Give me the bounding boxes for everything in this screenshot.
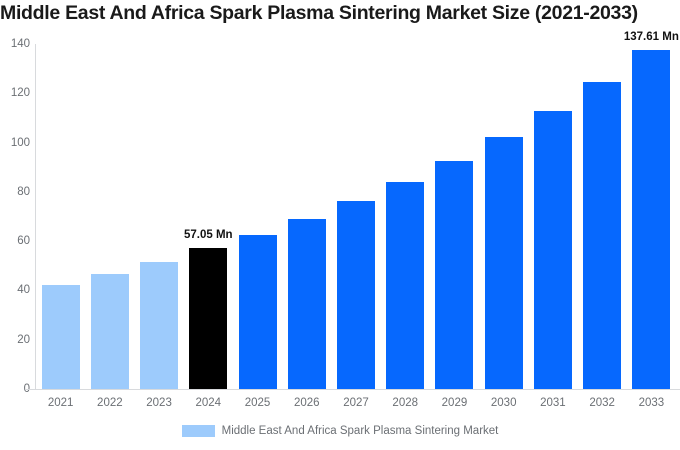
x-axis-line: [26, 389, 680, 390]
x-tick-label-2026: 2026: [282, 396, 332, 410]
x-tick-label-2021: 2021: [36, 396, 86, 410]
bar-2032[interactable]: [583, 82, 621, 389]
legend-label: Middle East And Africa Spark Plasma Sint…: [222, 424, 499, 438]
x-tick-label-2023: 2023: [134, 396, 184, 410]
x-tick-label-2030: 2030: [479, 396, 529, 410]
bar-chart: Middle East And Africa Spark Plasma Sint…: [0, 0, 680, 450]
bar-annotation-2024: 57.05 Mn: [168, 229, 248, 242]
legend-swatch-icon: [182, 425, 215, 437]
x-tick-label-2032: 2032: [577, 396, 627, 410]
x-tick-label-2028: 2028: [380, 396, 430, 410]
x-tick-label-2025: 2025: [233, 396, 283, 410]
y-tick-label: 20: [2, 334, 30, 346]
x-tick-label-2022: 2022: [85, 396, 135, 410]
chart-legend: Middle East And Africa Spark Plasma Sint…: [0, 424, 680, 438]
bar-2031[interactable]: [534, 111, 572, 389]
bar-2028[interactable]: [386, 182, 424, 389]
bar-2029[interactable]: [435, 161, 473, 389]
y-axis-tick-labels: 020406080100120140: [0, 0, 30, 450]
bar-2022[interactable]: [91, 274, 129, 389]
bar-2033[interactable]: [632, 50, 670, 389]
bar-annotation-2033: 137.61 Mn: [611, 31, 680, 44]
x-tick-label-2033: 2033: [626, 396, 676, 410]
y-tick-label: 80: [2, 186, 30, 198]
y-tick-label: 140: [2, 38, 30, 50]
x-tick-label-2031: 2031: [528, 396, 578, 410]
y-tick-label: 100: [2, 137, 30, 149]
bar-2030[interactable]: [485, 137, 523, 389]
bar-2024[interactable]: [189, 248, 227, 389]
bar-2025[interactable]: [239, 235, 277, 390]
x-tick-label-2029: 2029: [429, 396, 479, 410]
y-tick-label: 60: [2, 235, 30, 247]
x-tick-label-2024: 2024: [183, 396, 233, 410]
y-tick-label: 40: [2, 284, 30, 296]
bar-2027[interactable]: [337, 201, 375, 389]
y-tick-label: 120: [2, 87, 30, 99]
bar-2026[interactable]: [288, 219, 326, 389]
bar-2021[interactable]: [42, 285, 80, 389]
bars-layer: [36, 20, 680, 389]
bar-2023[interactable]: [140, 262, 178, 389]
x-tick-label-2027: 2027: [331, 396, 381, 410]
